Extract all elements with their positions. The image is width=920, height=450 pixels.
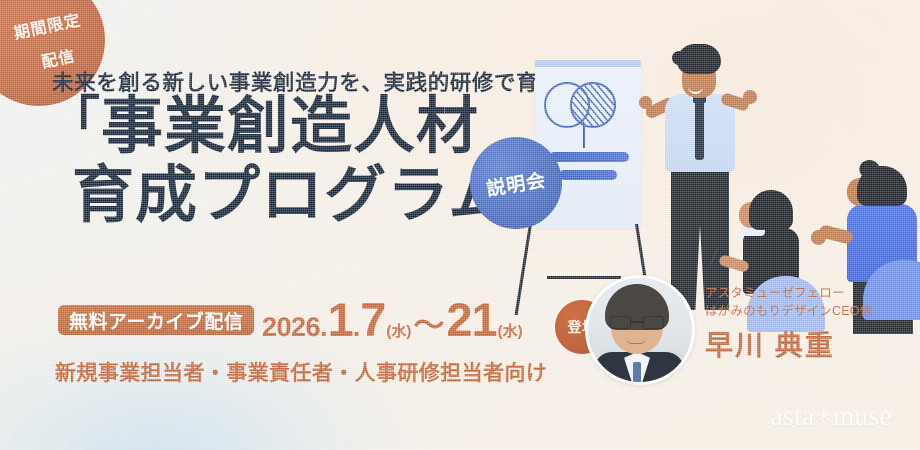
period-badge-line1: 期間限定 [12, 11, 83, 45]
audience2-hand [811, 230, 826, 245]
date-weekday-end: (水) [498, 320, 523, 341]
glasses-bridge [631, 321, 643, 323]
date-day-start: 7 [360, 296, 385, 343]
date-dot-2: . [353, 312, 361, 343]
presenter-tie [695, 100, 704, 160]
speaker-org-line-1: アスタミューゼフェロー [705, 284, 872, 302]
glasses-lens-right [610, 316, 631, 329]
avatar-mouth [626, 338, 646, 344]
venn-circle-right [570, 82, 616, 128]
venn-stem [583, 126, 585, 148]
speaker-avatar [585, 275, 695, 385]
date-range-separator: 〜 [413, 300, 444, 345]
audience1-hair [749, 190, 793, 230]
quote-open: 「 [48, 94, 101, 151]
date-weekday-start: (水) [386, 320, 411, 341]
date-year: 2026 [262, 312, 320, 343]
chart-bar-2 [559, 170, 617, 180]
presenter-hand-left [639, 96, 652, 109]
date-month: 1 [328, 296, 353, 343]
speaker-organization: アスタミューゼフェロー はがみのもりデザインCEO他 [705, 284, 872, 320]
briefing-session-label: 説明会 [484, 165, 548, 201]
title-text-1: 事業創造人材 [101, 93, 479, 161]
target-audience-line: 新規事業担当者・事業責任者・人事研修担当者向け [55, 357, 547, 387]
free-archive-label: 無料アーカイブ配信 [69, 307, 243, 334]
seminar-banner: 期間限定 配信 未来を創る新しい事業創造力を、実践的研修で育成 「事業創造人材 … [0, 0, 920, 450]
audience2-hair [857, 166, 907, 206]
date-dot-1: . [320, 312, 328, 343]
event-date: 2026 . 1 . 7 (水) 〜 21 (水) [262, 296, 523, 345]
logo-part-2: muse [833, 401, 892, 432]
chart-bar-1 [549, 152, 629, 162]
speaker-org-line-2: はがみのもりデザインCEO他 [705, 302, 872, 320]
free-archive-badge: 無料アーカイブ配信 [58, 305, 254, 335]
date-day-end: 21 [446, 296, 496, 343]
glasses-lens-left [643, 316, 664, 329]
asterisk-icon: ✳ [816, 405, 832, 428]
astamuse-logo: asta ✳ muse [771, 401, 892, 432]
presenter-hand-right [743, 90, 757, 104]
glasses-icon [610, 316, 664, 329]
flipchart-cap [535, 60, 641, 67]
venn-diagram-icon [544, 82, 632, 128]
speaker-name: 早川 典重 [705, 324, 835, 364]
avatar-tie [633, 362, 641, 384]
presenter-hair [677, 44, 721, 74]
title-text-2: 育成プログラム [72, 162, 511, 230]
logo-part-1: asta [771, 401, 815, 432]
